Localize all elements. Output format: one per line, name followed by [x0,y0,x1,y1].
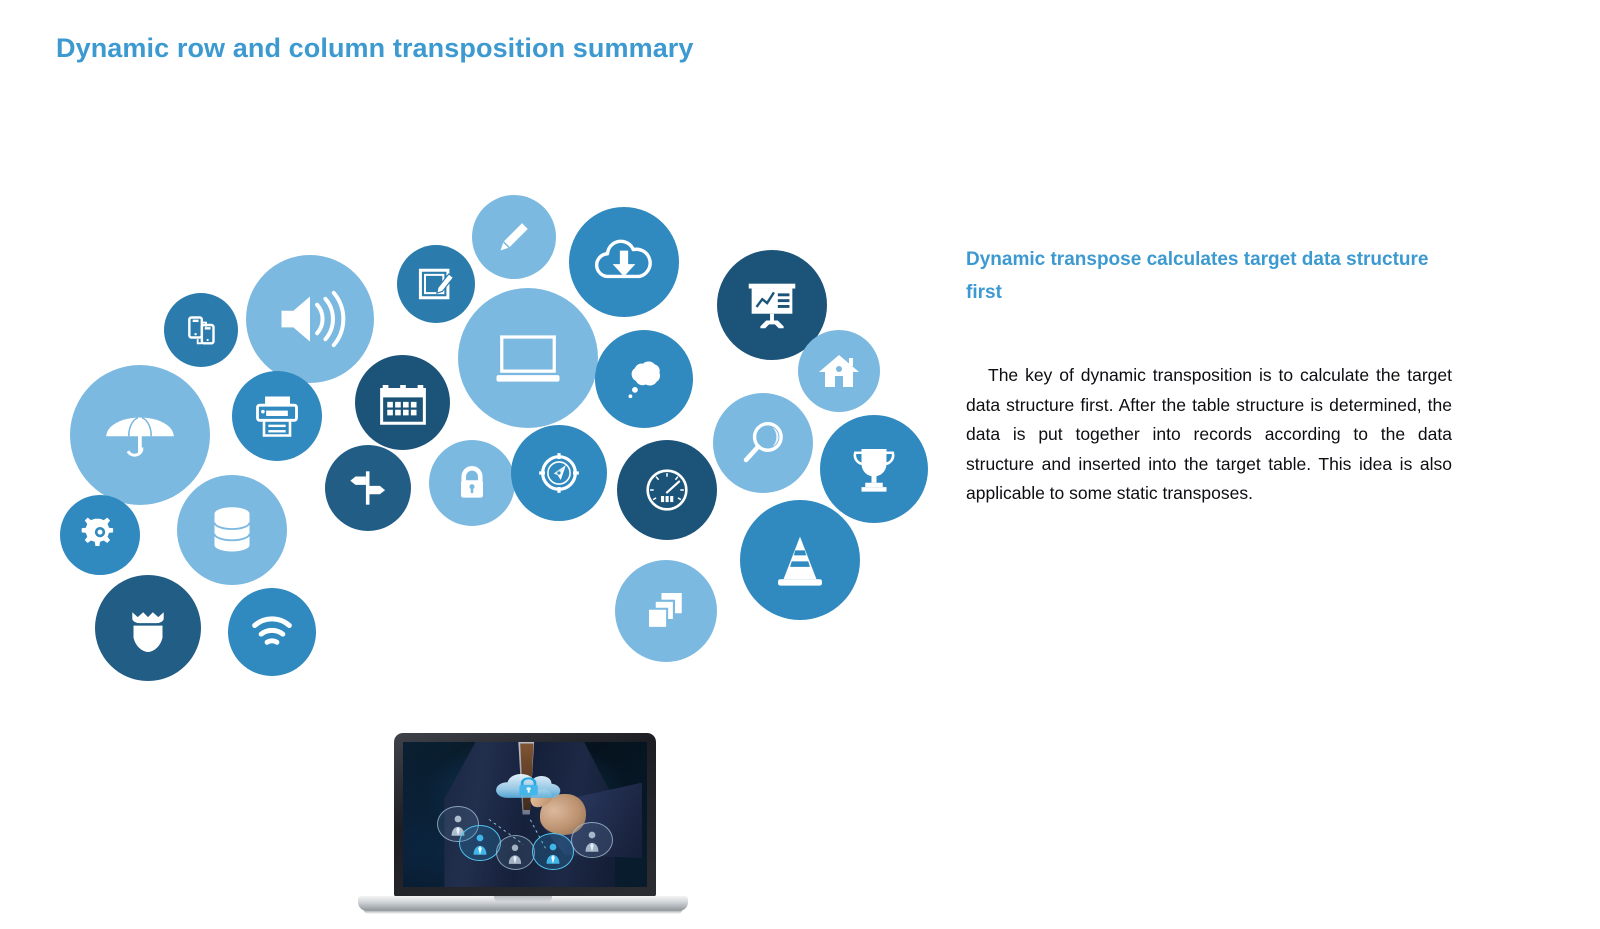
edit-document-icon [397,245,475,323]
laptop-screen-icon [458,288,598,428]
page-title: Dynamic row and column transposition sum… [56,33,694,64]
thought-bubble-icon [595,330,693,428]
layers-copy-icon [615,560,717,662]
user-avatar-node [571,822,612,858]
laptop-lid [394,733,656,897]
mobile-devices-icon [164,293,238,367]
panel-heading: Dynamic transpose calculates target data… [966,243,1436,309]
printer-icon [232,371,322,461]
wifi-icon [228,588,316,676]
icon-cloud-graphic [60,175,960,775]
laptop-foot [364,910,682,914]
trophy-icon [820,415,928,523]
gauge-speedometer-icon [617,440,717,540]
right-text-panel: Dynamic transpose calculates target data… [966,243,1466,509]
cloud-padlock-icon [492,768,565,806]
panel-body-text: The key of dynamic transposition is to c… [966,361,1452,509]
laptop-base [358,896,688,911]
signpost-directions-icon [325,445,411,531]
database-icon [177,475,287,585]
user-avatar-node [459,825,500,861]
pencil-icon [472,195,556,279]
laptop-notch [494,896,552,902]
search-magnifier-icon [713,393,813,493]
user-avatar-node [496,835,535,870]
lock-icon [429,440,515,526]
compass-icon [511,425,607,521]
home-icon [798,330,880,412]
laptop-screen [403,742,647,887]
speaker-volume-icon [246,255,374,383]
gear-settings-icon [60,495,140,575]
cloud-download-icon [569,207,679,317]
traffic-cone-icon [740,500,860,620]
umbrella-icon [70,365,210,505]
calendar-icon [355,355,450,450]
user-avatar-node [532,833,573,869]
shield-crown-icon [95,575,201,681]
